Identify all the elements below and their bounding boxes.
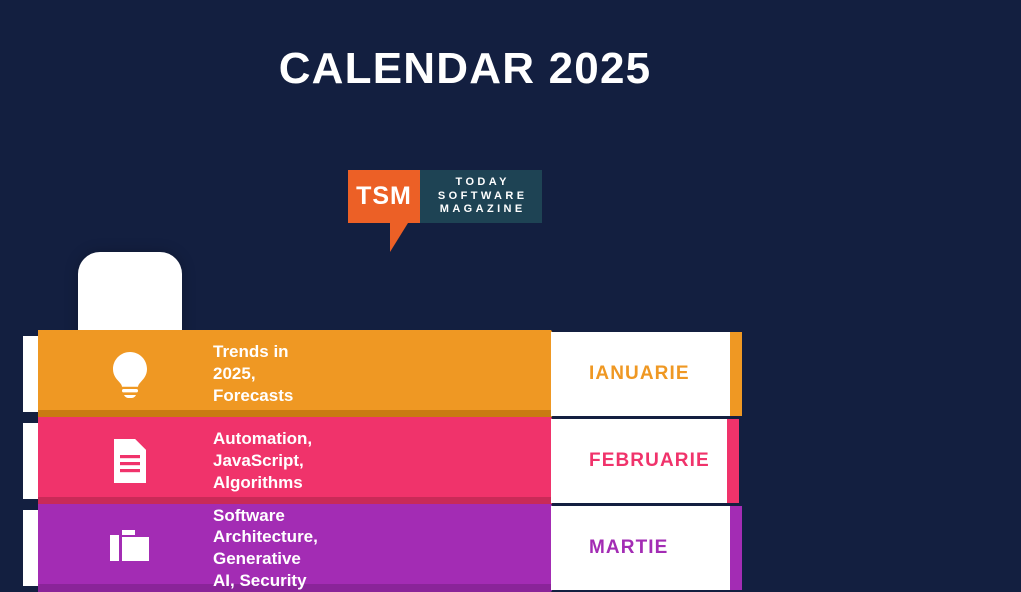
row-left-nub — [23, 336, 39, 412]
row-month-label: FEBRUARIE — [551, 450, 710, 472]
row-topic-label: Automation, JavaScript, Algorithms — [213, 417, 312, 505]
row-endcap — [730, 332, 742, 416]
row-topic-label: Software Architecture, Generative AI, Se… — [213, 504, 318, 592]
row-left-nub — [23, 423, 39, 499]
row-icon-lightbulb — [78, 330, 182, 418]
row-month-label: MARTIE — [551, 537, 668, 559]
row-endcap — [727, 419, 739, 503]
row-endcap — [730, 506, 742, 590]
row-month-panel: IANUARIE — [551, 332, 730, 416]
row-left-nub — [23, 510, 39, 586]
calendar-rows: Trends in 2025, Forecasts IANUARIE Autom… — [0, 0, 1021, 591]
row-icon-document — [78, 417, 182, 505]
row-month-panel: MARTIE — [551, 506, 730, 590]
row-month-label: IANUARIE — [551, 363, 690, 385]
row-icon-folder — [78, 504, 182, 592]
row-month-panel: FEBRUARIE — [551, 419, 727, 503]
row-topic-label: Trends in 2025, Forecasts — [213, 330, 293, 418]
